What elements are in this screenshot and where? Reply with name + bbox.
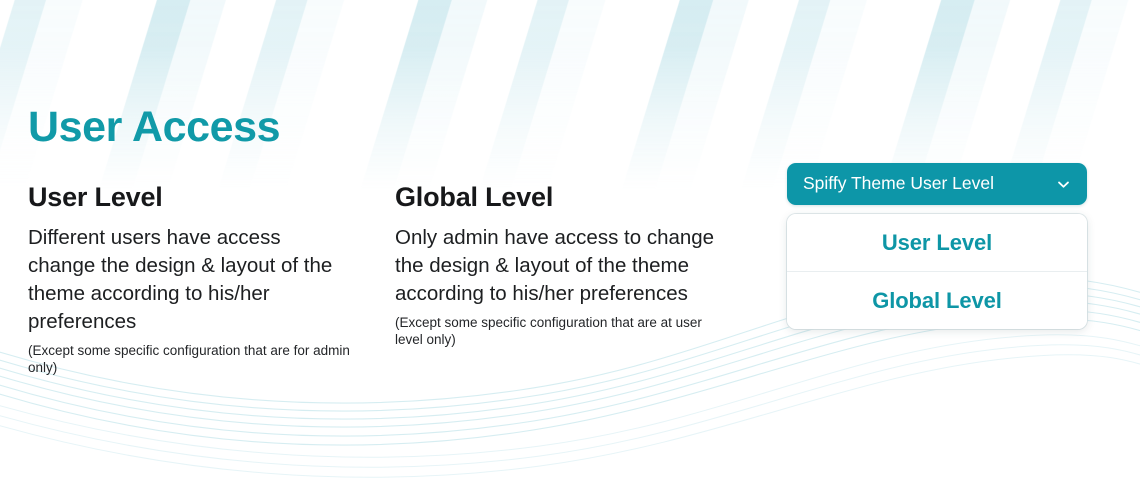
dropdown-option-global-level[interactable]: Global Level: [787, 271, 1087, 329]
dropdown-option-label: User Level: [882, 230, 992, 256]
column-user-level: User Level Different users have access c…: [28, 183, 378, 376]
diagonal-stripes-pattern: [0, 0, 1140, 190]
column-body-global-level: Only admin have access to change the des…: [395, 224, 715, 308]
column-title-global-level: Global Level: [395, 183, 745, 211]
column-title-user-level: User Level: [28, 183, 378, 211]
slide-canvas: User Access User Level Different users h…: [0, 0, 1140, 500]
page-title: User Access: [28, 106, 280, 149]
dropdown-menu: User Level Global Level: [787, 214, 1087, 329]
column-body-user-level: Different users have access change the d…: [28, 224, 348, 336]
column-note-global-level: (Except some specific configuration that…: [395, 314, 725, 348]
chevron-down-icon: [1056, 177, 1071, 192]
dropdown-option-user-level[interactable]: User Level: [787, 214, 1087, 271]
dropdown-selected-label: Spiffy Theme User Level: [803, 175, 1048, 193]
dropdown-toggle-button[interactable]: Spiffy Theme User Level: [787, 163, 1087, 205]
dropdown-option-label: Global Level: [872, 288, 1002, 314]
column-global-level: Global Level Only admin have access to c…: [395, 183, 745, 348]
user-level-dropdown: Spiffy Theme User Level User Level Globa…: [787, 163, 1087, 329]
column-note-user-level: (Except some specific configuration that…: [28, 342, 358, 376]
